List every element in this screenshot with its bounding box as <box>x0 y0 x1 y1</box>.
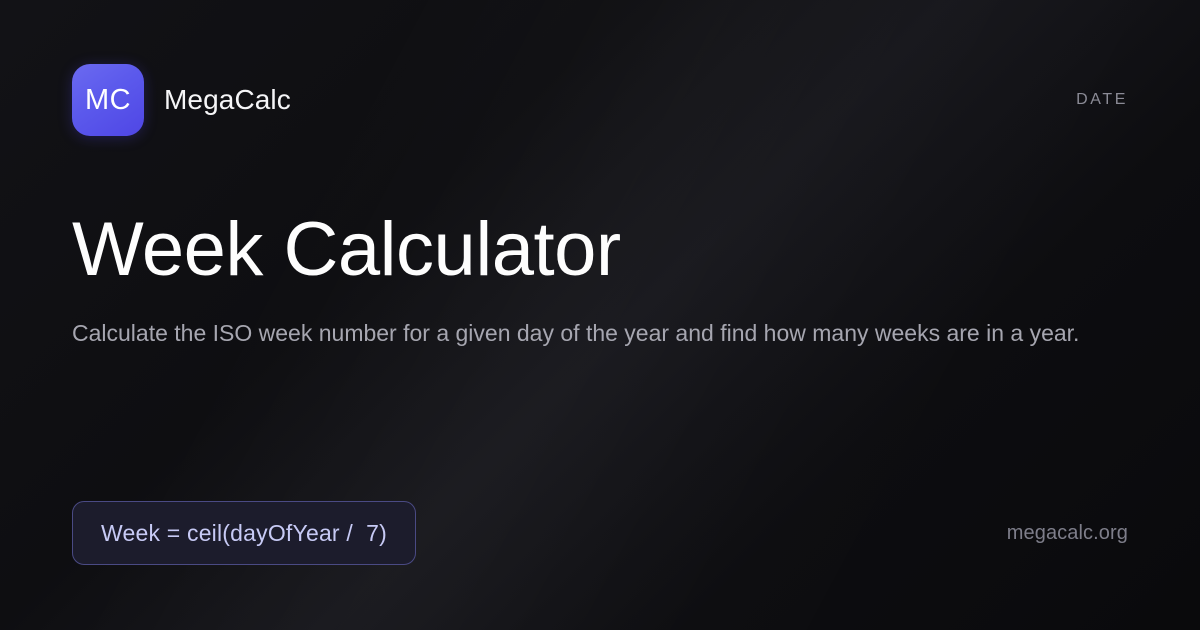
formula-text: Week = ceil(dayOfYear / 7) <box>101 520 387 547</box>
footer: Week = ceil(dayOfYear / 7) megacalc.org <box>72 501 1128 565</box>
formula-badge: Week = ceil(dayOfYear / 7) <box>72 501 416 565</box>
site-url: megacalc.org <box>1007 522 1128 545</box>
brand-name: MegaCalc <box>164 84 291 116</box>
og-card: MC MegaCalc DATE Week Calculator Calcula… <box>0 0 1200 630</box>
app-logo-icon: MC <box>72 64 144 136</box>
main-content: Week Calculator Calculate the ISO week n… <box>72 212 1128 352</box>
logo-initials: MC <box>85 86 131 115</box>
header: MC MegaCalc DATE <box>72 64 1128 136</box>
category-tag: DATE <box>1076 91 1128 109</box>
brand[interactable]: MC MegaCalc <box>72 64 291 136</box>
page-subtitle: Calculate the ISO week number for a give… <box>72 316 1112 352</box>
page-title: Week Calculator <box>72 212 1128 288</box>
